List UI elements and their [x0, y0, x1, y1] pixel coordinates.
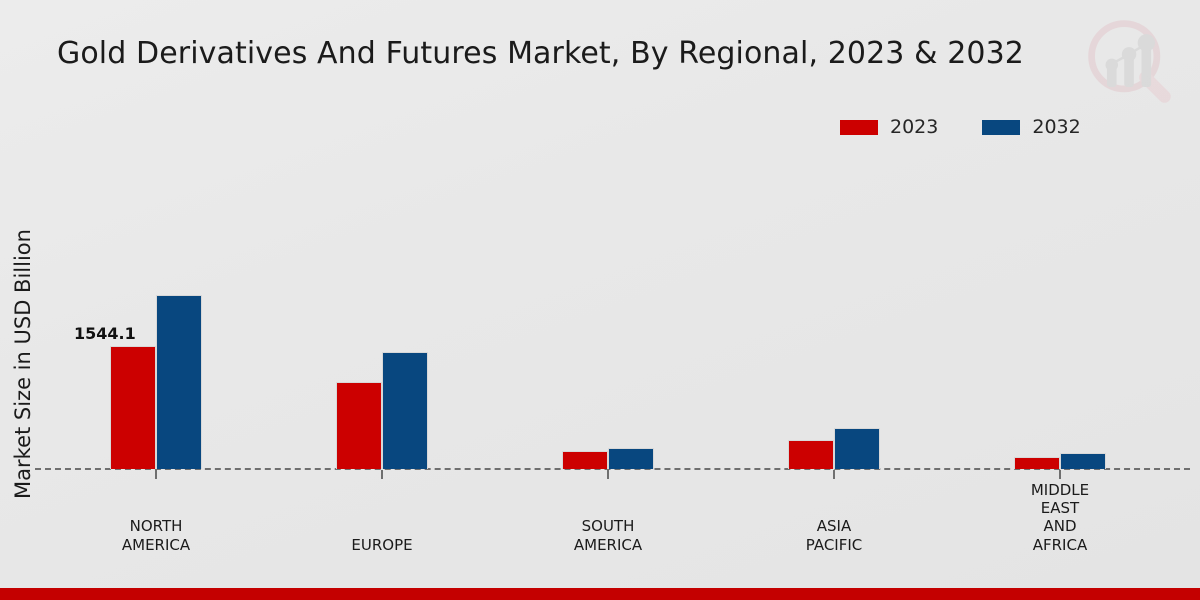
x-axis-tick — [155, 470, 157, 479]
bar-group: NORTH AMERICA — [71, 0, 241, 600]
bar-2032-south-america[interactable] — [608, 448, 654, 469]
chart-canvas: Gold Derivatives And Futures Market, By … — [0, 0, 1200, 600]
bar-2023-middle-east-and-africa[interactable] — [1014, 457, 1060, 469]
x-axis-tick — [1059, 470, 1061, 479]
bar-2032-middle-east-and-africa[interactable] — [1060, 453, 1106, 469]
bar-pair — [1014, 453, 1106, 469]
footer-accent-bar — [0, 588, 1200, 600]
x-axis-category-label: ASIA PACIFIC — [749, 517, 919, 554]
bar-group: SOUTH AMERICA — [523, 0, 693, 600]
x-axis-category-label: SOUTH AMERICA — [523, 517, 693, 554]
x-axis-category-label: NORTH AMERICA — [71, 517, 241, 554]
bar-pair — [788, 428, 880, 469]
x-axis-category-label: EUROPE — [297, 536, 467, 554]
bar-2023-north-america[interactable] — [110, 346, 156, 469]
bar-pair — [110, 295, 202, 469]
x-axis-category-label: MIDDLE EAST AND AFRICA — [975, 481, 1145, 554]
bar-2023-europe[interactable] — [336, 382, 382, 469]
bar-2023-asia-pacific[interactable] — [788, 440, 834, 469]
bar-2023-south-america[interactable] — [562, 451, 608, 469]
bar-2032-asia-pacific[interactable] — [834, 428, 880, 469]
bar-pair — [562, 448, 654, 469]
x-axis-tick — [381, 470, 383, 479]
bar-group: ASIA PACIFIC — [749, 0, 919, 600]
bar-value-label: 1544.1 — [74, 324, 136, 343]
bar-group: EUROPE — [297, 0, 467, 600]
plot-area: NORTH AMERICAEUROPESOUTH AMERICAASIA PAC… — [0, 0, 1200, 600]
x-axis-tick — [833, 470, 835, 479]
bar-2032-north-america[interactable] — [156, 295, 202, 469]
x-axis-tick — [607, 470, 609, 479]
bar-pair — [336, 352, 428, 469]
bar-group: MIDDLE EAST AND AFRICA — [975, 0, 1145, 600]
bar-2032-europe[interactable] — [382, 352, 428, 469]
